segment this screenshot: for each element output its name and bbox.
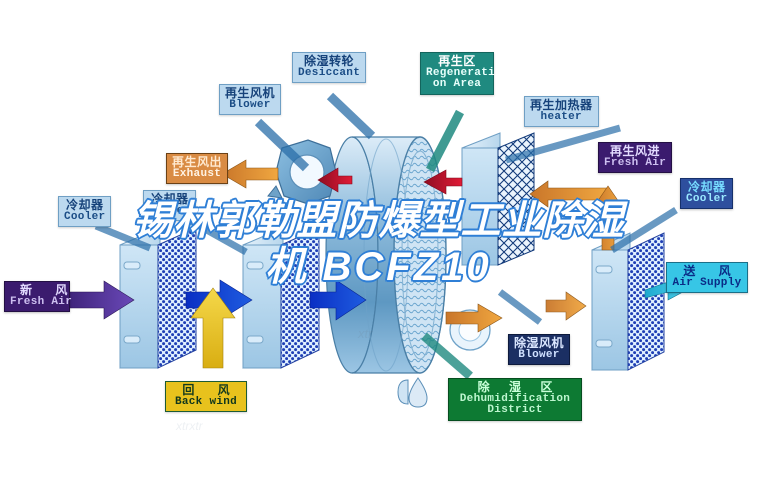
label-dehumidification-blower: 除湿风机 Blower xyxy=(508,334,570,365)
label-fresh-air-intake: 新 风 Fresh Air xyxy=(4,281,70,312)
label-exhaust-cn: 再生风出 xyxy=(172,156,222,169)
svg-text:xtrxtr: xtrxtr xyxy=(175,419,204,433)
label-air-supply-cn: 送 风 xyxy=(672,265,742,278)
label-desiccant-wheel-cn: 除湿转轮 xyxy=(298,55,360,68)
label-dehumidification-district-cn: 除 湿 区 xyxy=(454,381,576,394)
svg-text:xtr: xtr xyxy=(357,326,373,341)
label-back-wind-cn: 回 风 xyxy=(171,384,241,397)
label-cooler-right-en: Cooler xyxy=(686,194,727,206)
label-desiccant-wheel-en: Desiccant xyxy=(298,68,360,80)
label-cooler-right: 冷却器 Cooler xyxy=(680,178,733,209)
cooler-unit-right xyxy=(592,233,664,370)
cooler-unit-left-2 xyxy=(243,228,319,368)
label-regeneration-fresh-air-cn: 再生风进 xyxy=(604,145,666,158)
label-cooler-left-1-cn: 冷却器 xyxy=(64,199,105,212)
label-exhaust-en: Exhaust xyxy=(172,169,222,181)
label-dehumidification-blower-en: Blower xyxy=(514,350,564,362)
label-regeneration-blower-cn: 再生风机 xyxy=(225,87,275,100)
label-cooler-left-2: 冷却器 Cooler xyxy=(143,190,196,221)
label-fresh-air-intake-cn: 新 风 xyxy=(10,284,64,297)
label-back-wind: 回 风 Back wind xyxy=(165,381,247,412)
label-regeneration-heater-cn: 再生加热器 xyxy=(530,99,593,112)
label-cooler-left-2-en: Cooler xyxy=(149,206,190,218)
label-air-supply-en: Air Supply xyxy=(672,278,742,290)
label-fresh-air-intake-en: Fresh Air xyxy=(10,297,64,309)
label-regeneration-fresh-air-en: Fresh Air xyxy=(604,158,666,170)
label-regeneration-area-cn: 再生区 xyxy=(426,55,488,68)
label-regeneration-fresh-air: 再生风进 Fresh Air xyxy=(598,142,672,173)
label-regeneration-area-en-2: on Area xyxy=(426,79,488,91)
label-dehumidification-district: 除 湿 区 Dehumidification District xyxy=(448,378,582,421)
diagram-canvas: xtr xtrxtr 锡林郭勒盟防爆型工业除湿 机 BCFZ10 除湿转轮 De… xyxy=(0,0,757,488)
label-cooler-left-1: 冷却器 Cooler xyxy=(58,196,111,227)
label-regeneration-area: 再生区 Regenerati on Area xyxy=(420,52,494,95)
dehumidifier-schematic: xtr xtrxtr xyxy=(0,0,757,488)
label-regeneration-heater: 再生加热器 heater xyxy=(524,96,599,127)
label-dehumidification-blower-cn: 除湿风机 xyxy=(514,337,564,350)
label-dehumidification-district-en-2: District xyxy=(454,405,576,417)
arrow-process-air xyxy=(546,292,586,320)
label-exhaust: 再生风出 Exhaust xyxy=(166,153,228,184)
label-cooler-left-1-en: Cooler xyxy=(64,212,105,224)
label-regeneration-heater-en: heater xyxy=(530,112,593,124)
water-drop-icon xyxy=(398,378,427,407)
label-cooler-right-cn: 冷却器 xyxy=(686,181,727,194)
label-back-wind-en: Back wind xyxy=(171,397,241,409)
label-cooler-left-2-cn: 冷却器 xyxy=(149,193,190,206)
label-regeneration-blower: 再生风机 Blower xyxy=(219,84,281,115)
label-air-supply: 送 风 Air Supply xyxy=(666,262,748,293)
label-desiccant-wheel: 除湿转轮 Desiccant xyxy=(292,52,366,83)
label-regeneration-blower-en: Blower xyxy=(225,100,275,112)
arrow-exhaust-out xyxy=(222,160,278,188)
